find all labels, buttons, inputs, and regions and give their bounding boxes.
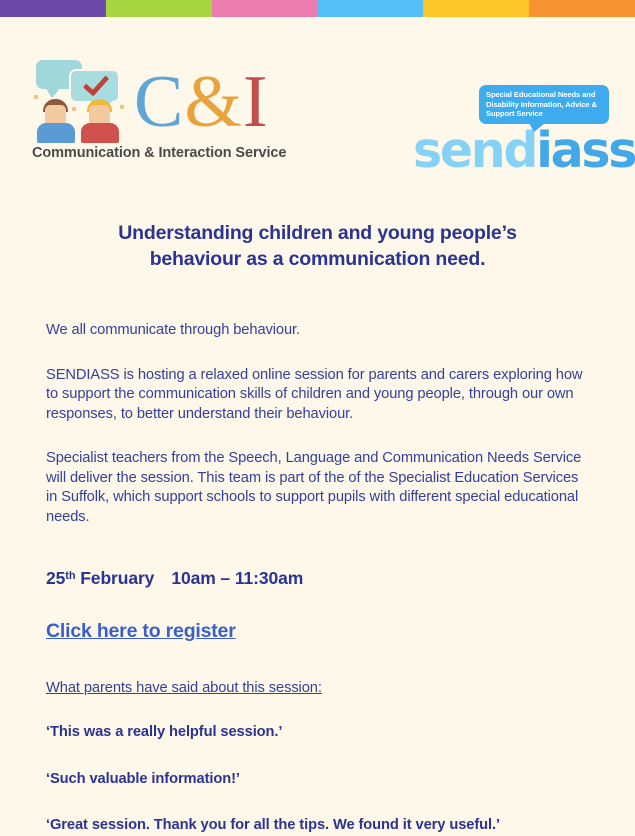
testimonial-quote: ‘Great session. Thank you for all the ti… [46, 816, 589, 836]
session-date-day: 25 [46, 568, 65, 588]
session-paragraph: SENDIASS is hosting a relaxed online ses… [46, 366, 589, 425]
color-segment-green [106, 0, 212, 17]
sendiass-logo: Special Educational Needs and Disability… [413, 85, 613, 176]
team-paragraph: Specialist teachers from the Speech, Lan… [46, 449, 589, 527]
ci-letter-i: I [243, 61, 269, 143]
sparkle-dot-icon [120, 105, 124, 109]
page-title-line-1: Understanding children and young people’… [118, 222, 516, 244]
sendiass-word-send: send [413, 122, 536, 179]
person-icon [80, 99, 120, 143]
ci-letter-c: C [134, 61, 184, 143]
header: C&I Communication & Interaction Service … [0, 17, 635, 167]
session-date-month: February [80, 568, 154, 588]
page-title: Understanding children and young people’… [52, 220, 583, 272]
session-date-ordinal: th [65, 570, 75, 582]
color-segment-purple [0, 0, 106, 17]
ci-letter-amp: & [184, 61, 243, 143]
main-content: Understanding children and young people’… [0, 220, 635, 836]
color-segment-blue [317, 0, 423, 17]
session-datetime: 25th February10am – 11:30am [46, 568, 589, 589]
person-shirt [37, 123, 75, 143]
color-segment-orange [529, 0, 635, 17]
session-time-range: 10am – 11:30am [171, 568, 303, 588]
ci-logo-letters: C&I [134, 65, 269, 143]
color-segment-pink [212, 0, 318, 17]
color-segment-yellow [423, 0, 529, 17]
register-link[interactable]: Click here to register [46, 620, 236, 643]
top-color-bar [0, 0, 635, 17]
ci-logo: C&I Communication & Interaction Service [32, 55, 332, 161]
sendiass-speech-bubble-icon: Special Educational Needs and Disability… [479, 85, 609, 124]
sendiass-word-iass: iass [536, 122, 635, 179]
page-title-line-2: behaviour as a communication need. [150, 248, 486, 270]
ci-logo-illustration [32, 55, 128, 143]
sendiass-bubble-text: Special Educational Needs and Disability… [486, 90, 603, 119]
ci-logo-tagline: Communication & Interaction Service [32, 145, 332, 161]
testimonials-heading: What parents have said about this sessio… [46, 680, 589, 696]
poster-page: C&I Communication & Interaction Service … [0, 17, 635, 834]
person-shirt [81, 123, 119, 143]
intro-paragraph: We all communicate through behaviour. [46, 321, 589, 341]
testimonial-quote: ‘Such valuable information!’ [46, 770, 589, 790]
sendiass-wordmark: sendiass [413, 126, 613, 176]
person-icon [36, 99, 76, 143]
testimonial-quote: ‘This was a really helpful session.’ [46, 723, 589, 743]
